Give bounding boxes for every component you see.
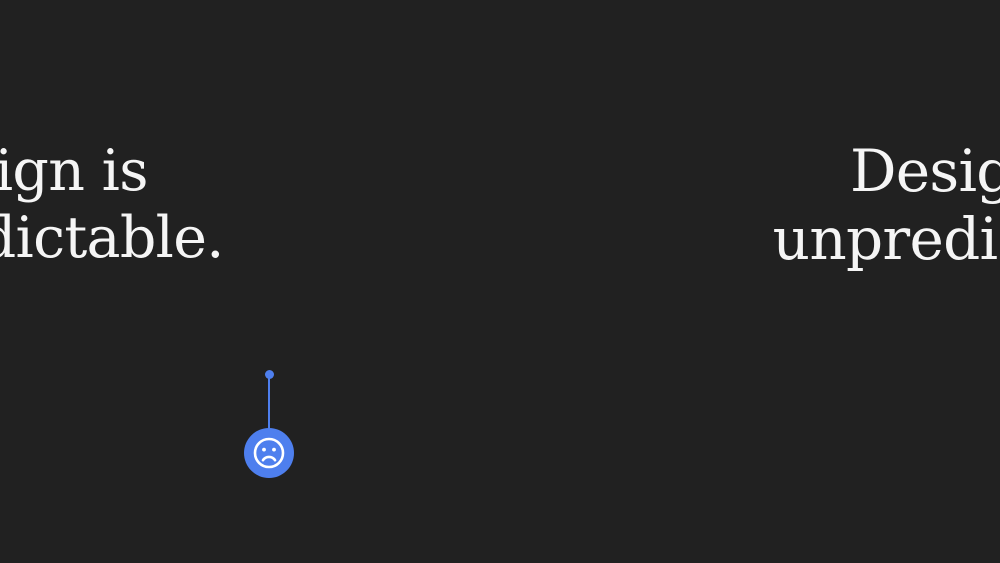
panel-left: Design is unpredictable. bbox=[0, 0, 500, 563]
headline-right-line-2: unpredictable. bbox=[732, 206, 1000, 274]
headline-right: Design is unpredictable. bbox=[732, 138, 1000, 274]
headline-left: Design is unpredictable. bbox=[0, 138, 268, 271]
headline-right-line-1: Design is bbox=[732, 138, 1000, 206]
panel-right: Design is unpredictable. bbox=[500, 0, 1000, 563]
marker-stem bbox=[268, 375, 270, 431]
headline-left-line-1: Design is bbox=[0, 138, 268, 205]
headline-left-line-2: unpredictable. bbox=[0, 205, 268, 272]
map-pin-marker-negative[interactable] bbox=[239, 370, 299, 480]
marker-bubble[interactable] bbox=[244, 428, 294, 478]
frowning-face-icon bbox=[252, 436, 286, 470]
slide-canvas: Design is unpredictable. Design is bbox=[0, 0, 1000, 563]
